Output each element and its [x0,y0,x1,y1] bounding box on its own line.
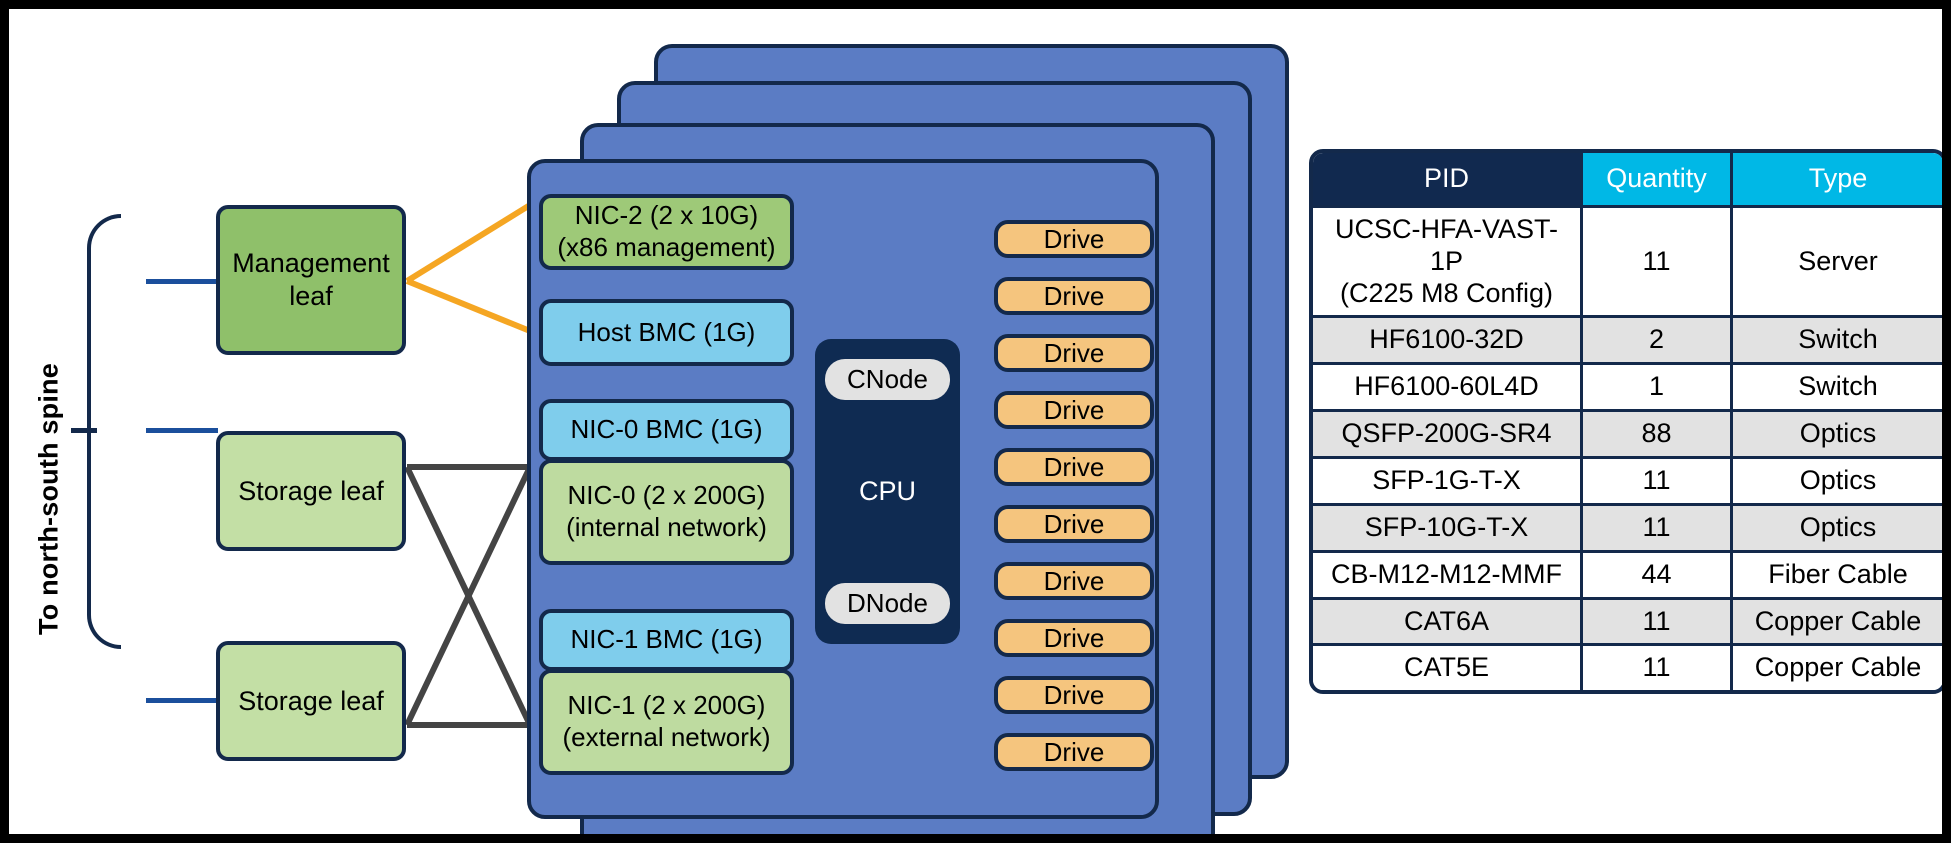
table-row: QSFP-200G-SR488Optics [1313,412,1943,459]
nic-0-label: NIC-0 (2 x 200G)(internal network) [566,480,767,543]
table-row: HF6100-32D2Switch [1313,318,1943,365]
leaf-storage-1-label: Storage leaf [238,475,384,508]
drive-2[interactable]: Drive [994,277,1154,315]
nic-1-label: NIC-1 (2 x 200G)(external network) [562,690,770,753]
cell-type: Copper Cable [1733,646,1943,690]
storage-links [407,467,530,725]
cell-type: Optics [1733,412,1943,459]
diagram-canvas: To north-south spine Managementleaf Stor… [0,0,1951,843]
nic-0-box[interactable]: NIC-0 (2 x 200G)(internal network) [539,459,794,565]
cell-pid: HF6100-60L4D [1313,365,1583,412]
spine-link-storage-2 [146,698,218,703]
cell-pid: CAT6A [1313,600,1583,647]
cell-pid: CAT5E [1313,646,1583,690]
drive-5-label: Drive [1044,452,1105,483]
host-bmc-box[interactable]: Host BMC (1G) [539,299,794,366]
nic-1-bmc-label: NIC-1 BMC (1G) [570,624,762,656]
drive-7-label: Drive [1044,566,1105,597]
cpu-block[interactable]: CNode CPU DNode [815,339,960,644]
leaf-management-label: Managementleaf [232,247,390,313]
drive-6-label: Drive [1044,509,1105,540]
leaf-management[interactable]: Managementleaf [216,205,406,355]
drive-6[interactable]: Drive [994,505,1154,543]
cell-quantity: 11 [1583,459,1733,506]
leaf-storage-2[interactable]: Storage leaf [216,641,406,761]
table-row: CAT6A11Copper Cable [1313,600,1943,647]
drive-8[interactable]: Drive [994,619,1154,657]
host-bmc-label: Host BMC (1G) [578,317,756,349]
drive-3[interactable]: Drive [994,334,1154,372]
drive-10-label: Drive [1044,737,1105,768]
cell-quantity: 11 [1583,208,1733,319]
drive-1-label: Drive [1044,224,1105,255]
cell-pid: CB-M12-M12-MMF [1313,553,1583,600]
table-row: CAT5E11Copper Cable [1313,646,1943,690]
cell-type: Server [1733,208,1943,319]
cell-pid: SFP-1G-T-X [1313,459,1583,506]
spine-bracket-stem [71,428,97,433]
cell-type: Copper Cable [1733,600,1943,647]
drive-1[interactable]: Drive [994,220,1154,258]
spine-label: To north-south spine [29,339,69,659]
cell-type: Fiber Cable [1733,553,1943,600]
drive-8-label: Drive [1044,623,1105,654]
spine-link-management [146,279,218,284]
drive-9-label: Drive [1044,680,1105,711]
nic-2-label: NIC-2 (2 x 10G)(x86 management) [557,200,775,263]
header-type: Type [1733,153,1943,208]
dnode-pill[interactable]: DNode [825,583,950,624]
cpu-label: CPU [859,476,916,507]
cnode-pill[interactable]: CNode [825,359,950,400]
nic-0-bmc-box[interactable]: NIC-0 BMC (1G) [539,399,794,461]
cell-type: Switch [1733,318,1943,365]
cell-quantity: 1 [1583,365,1733,412]
cell-type: Optics [1733,459,1943,506]
drive-4-label: Drive [1044,395,1105,426]
bom-table: PID Quantity Type UCSC-HFA-VAST-1P(C225 … [1309,149,1947,694]
cell-quantity: 88 [1583,412,1733,459]
leaf-storage-1[interactable]: Storage leaf [216,431,406,551]
drive-3-label: Drive [1044,338,1105,369]
cell-pid: SFP-10G-T-X [1313,506,1583,553]
nic-2-box[interactable]: NIC-2 (2 x 10G)(x86 management) [539,194,794,270]
cell-quantity: 11 [1583,646,1733,690]
nic-1-bmc-box[interactable]: NIC-1 BMC (1G) [539,609,794,671]
header-quantity: Quantity [1583,153,1733,208]
drive-9[interactable]: Drive [994,676,1154,714]
leaf-storage-2-label: Storage leaf [238,685,384,718]
cell-type: Optics [1733,506,1943,553]
management-links [407,205,530,331]
nic-0-bmc-label: NIC-0 BMC (1G) [570,414,762,446]
table-row: SFP-1G-T-X11Optics [1313,459,1943,506]
drive-7[interactable]: Drive [994,562,1154,600]
table-row: HF6100-60L4D1Switch [1313,365,1943,412]
table-header-row: PID Quantity Type [1313,153,1943,208]
cell-pid: UCSC-HFA-VAST-1P(C225 M8 Config) [1313,208,1583,319]
drive-10[interactable]: Drive [994,733,1154,771]
drive-4[interactable]: Drive [994,391,1154,429]
cell-pid: QSFP-200G-SR4 [1313,412,1583,459]
table-row: SFP-10G-T-X11Optics [1313,506,1943,553]
cell-quantity: 11 [1583,600,1733,647]
nic-1-box[interactable]: NIC-1 (2 x 200G)(external network) [539,669,794,775]
cell-quantity: 11 [1583,506,1733,553]
drive-5[interactable]: Drive [994,448,1154,486]
table-row: UCSC-HFA-VAST-1P(C225 M8 Config)11Server [1313,208,1943,319]
table-row: CB-M12-M12-MMF44Fiber Cable [1313,553,1943,600]
spine-link-storage-1 [146,428,218,433]
header-pid: PID [1313,153,1583,208]
cell-type: Switch [1733,365,1943,412]
drive-2-label: Drive [1044,281,1105,312]
cell-quantity: 44 [1583,553,1733,600]
cell-quantity: 2 [1583,318,1733,365]
cell-pid: HF6100-32D [1313,318,1583,365]
